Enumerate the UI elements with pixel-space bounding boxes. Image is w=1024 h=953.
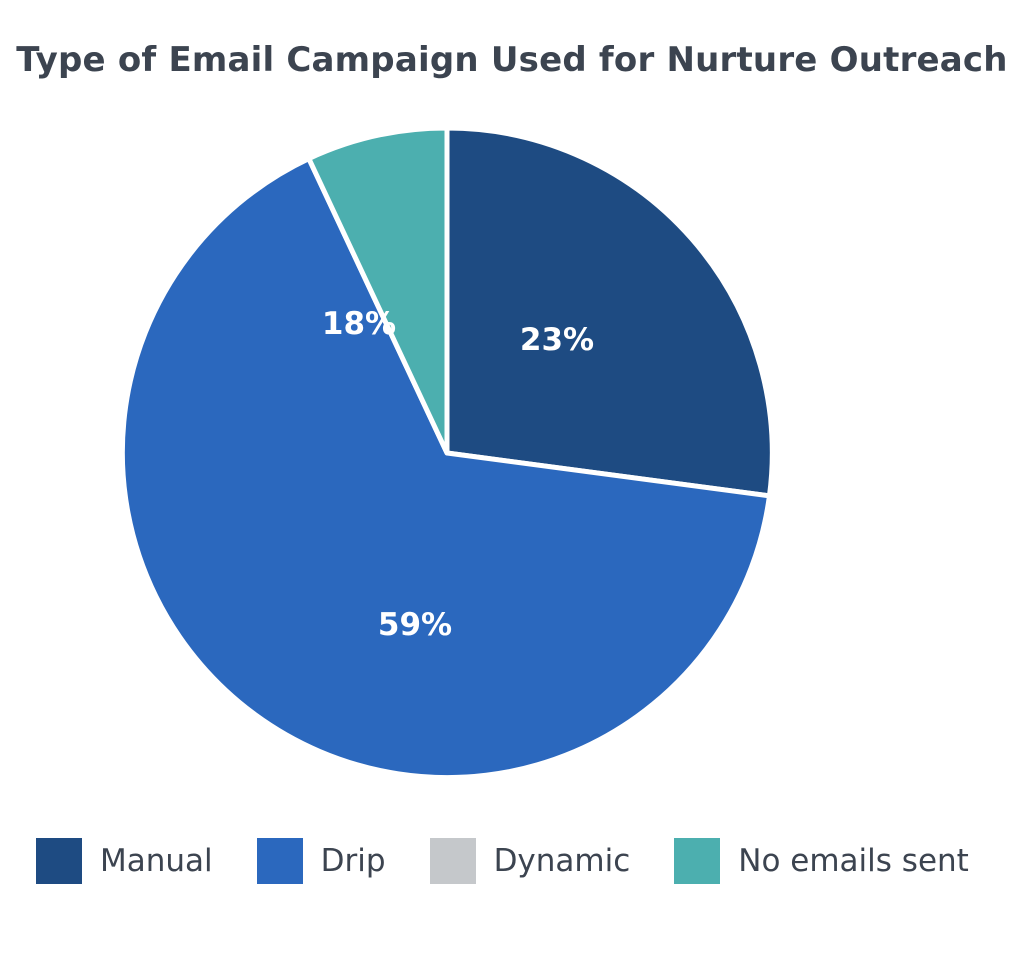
pie-label-manual: 23% <box>520 322 594 358</box>
legend-item-dynamic[interactable]: Dynamic <box>430 838 631 884</box>
chart-title-area: Type of Email Campaign Used for Nurture … <box>0 0 1024 120</box>
plot-area: 23% 59% 18% <box>0 120 1024 838</box>
legend-label-dynamic: Dynamic <box>494 846 631 877</box>
legend-item-manual[interactable]: Manual <box>36 838 213 884</box>
legend-label-manual: Manual <box>100 846 213 877</box>
legend: Manual Drip Dynamic No emails sent <box>36 838 1013 884</box>
legend-swatch-icon-dynamic <box>430 838 476 884</box>
legend-item-no-emails-sent[interactable]: No emails sent <box>674 838 969 884</box>
legend-area: Manual Drip Dynamic No emails sent <box>0 838 1024 953</box>
legend-swatch-icon-drip <box>257 838 303 884</box>
legend-label-no-emails-sent: No emails sent <box>738 846 969 877</box>
pie-container: 23% 59% 18% <box>122 128 772 778</box>
pie-label-no-emails-sent: 18% <box>322 306 396 342</box>
pie-chart-figure: Type of Email Campaign Used for Nurture … <box>0 0 1024 953</box>
legend-swatch-icon-no-emails-sent <box>674 838 720 884</box>
legend-item-drip[interactable]: Drip <box>257 838 386 884</box>
pie-label-drip: 59% <box>378 607 452 643</box>
legend-swatch-icon-manual <box>36 838 82 884</box>
legend-label-drip: Drip <box>321 846 386 877</box>
pie-slice-manual[interactable] <box>447 128 772 496</box>
pie-svg: 23% 59% 18% <box>122 128 772 778</box>
page-title: Type of Email Campaign Used for Nurture … <box>16 40 1007 80</box>
